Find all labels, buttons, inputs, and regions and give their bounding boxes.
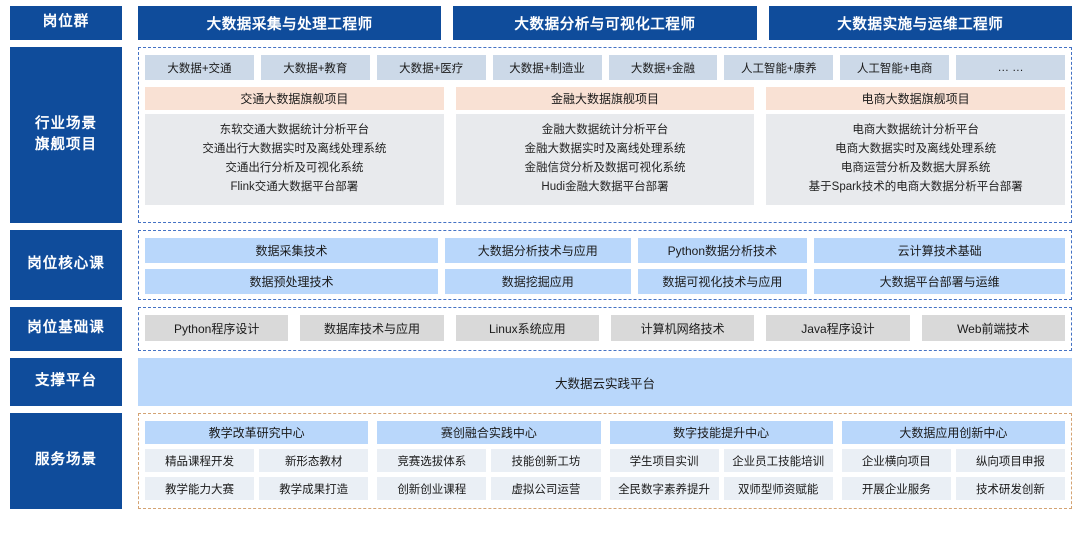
service-scene-title-label: 教学改革研究中心 <box>209 424 305 441</box>
support-platform-label: 大数据云实践平台 <box>555 373 655 392</box>
industry-tag-more[interactable]: … … <box>956 55 1065 80</box>
spacer <box>122 307 138 351</box>
support-platform-item[interactable]: 大数据云实践平台 <box>138 358 1072 406</box>
service-scene-subrow: 开展企业服务 技术研发创新 <box>842 477 1065 500</box>
industry-tag[interactable]: 大数据+医疗 <box>377 55 486 80</box>
rail-job-group: 岗位群 <box>10 6 122 40</box>
core-course-label: 数据挖掘应用 <box>502 273 574 290</box>
flagship-project-title-label: 电商大数据旗舰项目 <box>862 90 970 107</box>
rail-core-courses-label: 岗位核心课 <box>27 254 105 275</box>
flagship-project-item: 东软交通大数据统计分析平台 <box>149 121 440 140</box>
rail-support-platform-label: 支撑平台 <box>35 371 97 392</box>
service-scene-item-label: 开展企业服务 <box>862 481 931 497</box>
basic-course-panel: Python程序设计 数据库技术与应用 Linux系统应用 计算机网络技术 Ja… <box>138 307 1072 351</box>
flagship-project-title[interactable]: 电商大数据旗舰项目 <box>766 87 1065 110</box>
job-group-list: 大数据采集与处理工程师 大数据分析与可视化工程师 大数据实施与运维工程师 <box>138 6 1072 40</box>
service-scene-item-label: 虚拟公司运营 <box>511 481 580 497</box>
industry-flagship-panel: 大数据+交通 大数据+教育 大数据+医疗 大数据+制造业 大数据+金融 人工智能… <box>138 47 1072 223</box>
flagship-project-card: 交通大数据旗舰项目 东软交通大数据统计分析平台 交通出行大数据实时及离线处理系统… <box>145 87 444 205</box>
rail-line-1: 行业场景 <box>35 116 97 132</box>
core-course-row-2: 数据预处理技术 数据挖掘应用 数据可视化技术与应用 大数据平台部署与运维 <box>145 269 1065 294</box>
support-platform-panel: 大数据云实践平台 <box>138 358 1072 406</box>
basic-course-label: Python程序设计 <box>174 320 259 337</box>
job-group-item[interactable]: 大数据采集与处理工程师 <box>138 6 441 40</box>
industry-tag-label: 人工智能+电商 <box>857 60 933 76</box>
core-course-item[interactable]: 数据预处理技术 <box>145 269 438 294</box>
core-course-grid: 数据采集技术 大数据分析技术与应用 Python数据分析技术 云计算技术基础 数… <box>145 238 1065 294</box>
support-platform-row: 支撑平台 大数据云实践平台 <box>10 358 1072 406</box>
flagship-project-item: 电商大数据统计分析平台 <box>770 121 1061 140</box>
job-group-label: 大数据实施与运维工程师 <box>837 13 1003 34</box>
basic-course-item[interactable]: Linux系统应用 <box>456 315 599 341</box>
industry-tag[interactable]: 大数据+金融 <box>609 55 718 80</box>
core-course-row: 岗位核心课 数据采集技术 大数据分析技术与应用 Python数据分析技术 云计算… <box>10 230 1072 300</box>
rail-service-scene: 服务场景 <box>10 413 122 509</box>
rail-industry-flagship-label: 行业场景 旗舰项目 <box>35 114 97 156</box>
service-scene-subrow: 企业横向项目 纵向项目申报 <box>842 449 1065 472</box>
service-scene-row: 服务场景 教学改革研究中心 精品课程开发 新形态教材 教学能力大赛 教学成果打造 <box>10 413 1072 509</box>
flagship-project-items: 电商大数据统计分析平台 电商大数据实时及离线处理系统 电商运营分析及数据大屏系统… <box>766 114 1065 205</box>
industry-flagship-row: 行业场景 旗舰项目 大数据+交通 大数据+教育 大数据+医疗 大数据+制造业 大… <box>10 47 1072 223</box>
service-scene-panel: 教学改革研究中心 精品课程开发 新形态教材 教学能力大赛 教学成果打造 赛创融合… <box>138 413 1072 509</box>
service-scene-item-label: 学生项目实训 <box>630 453 699 469</box>
basic-course-label: Linux系统应用 <box>489 320 566 337</box>
service-scene-card: 大数据应用创新中心 企业横向项目 纵向项目申报 开展企业服务 技术研发创新 <box>842 421 1065 500</box>
industry-tag[interactable]: 大数据+制造业 <box>493 55 602 80</box>
flagship-project-items: 金融大数据统计分析平台 金融大数据实时及离线处理系统 金融信贷分析及数据可视化系… <box>456 114 755 205</box>
basic-course-row: 岗位基础课 Python程序设计 数据库技术与应用 Linux系统应用 计算机网… <box>10 307 1072 351</box>
service-scene-card: 教学改革研究中心 精品课程开发 新形态教材 教学能力大赛 教学成果打造 <box>145 421 368 500</box>
spacer <box>122 47 138 223</box>
rail-industry-flagship: 行业场景 旗舰项目 <box>10 47 122 223</box>
flagship-project-items: 东软交通大数据统计分析平台 交通出行大数据实时及离线处理系统 交通出行分析及可视… <box>145 114 444 205</box>
basic-course-label: Java程序设计 <box>801 320 874 337</box>
flagship-project-item: Flink交通大数据平台部署 <box>149 178 440 197</box>
service-scene-card: 赛创融合实践中心 竞赛选拔体系 技能创新工坊 创新创业课程 虚拟公司运营 <box>377 421 600 500</box>
core-course-item[interactable]: 云计算技术基础 <box>814 238 1065 263</box>
service-scene-item-label: 技能创新工坊 <box>511 453 580 469</box>
core-course-label: 数据可视化技术与应用 <box>662 273 782 290</box>
service-scene-item-label: 创新创业课程 <box>397 481 466 497</box>
basic-course-list: Python程序设计 数据库技术与应用 Linux系统应用 计算机网络技术 Ja… <box>145 315 1065 341</box>
spacer <box>122 230 138 300</box>
job-group-item[interactable]: 大数据实施与运维工程师 <box>769 6 1072 40</box>
industry-tag-label: 大数据+医疗 <box>399 60 463 76</box>
service-scene-item-label: 纵向项目申报 <box>976 453 1045 469</box>
service-scene-item-label: 企业横向项目 <box>862 453 931 469</box>
service-scene-title[interactable]: 数字技能提升中心 <box>610 421 833 444</box>
service-scene-item-label: 精品课程开发 <box>165 453 234 469</box>
flagship-project-item: 交通出行大数据实时及离线处理系统 <box>149 140 440 159</box>
industry-tag-row: 大数据+交通 大数据+教育 大数据+医疗 大数据+制造业 大数据+金融 人工智能… <box>145 55 1065 80</box>
service-scene-subrow: 全民数字素养提升 双师型师资赋能 <box>610 477 833 500</box>
basic-course-item[interactable]: Java程序设计 <box>766 315 909 341</box>
service-scene-title-label: 赛创融合实践中心 <box>441 424 537 441</box>
industry-tag[interactable]: 人工智能+电商 <box>840 55 949 80</box>
industry-tag-label: 人工智能+康养 <box>741 60 817 76</box>
core-course-item[interactable]: 大数据分析技术与应用 <box>445 238 631 263</box>
flagship-project-item: 金融大数据实时及离线处理系统 <box>460 140 751 159</box>
flagship-project-item: 电商大数据实时及离线处理系统 <box>770 140 1061 159</box>
industry-tag-label: 大数据+教育 <box>283 60 347 76</box>
service-scene-item[interactable]: 学生项目实训 <box>610 449 719 472</box>
service-scene-card: 数字技能提升中心 学生项目实训 企业员工技能培训 全民数字素养提升 双师型师资赋… <box>610 421 833 500</box>
service-scene-item[interactable]: 技术研发创新 <box>956 477 1065 500</box>
service-scene-item[interactable]: 企业横向项目 <box>842 449 951 472</box>
job-group-row: 岗位群 大数据采集与处理工程师 大数据分析与可视化工程师 大数据实施与运维工程师 <box>10 6 1072 40</box>
rail-basic-courses: 岗位基础课 <box>10 307 122 351</box>
rail-job-group-label: 岗位群 <box>43 12 90 33</box>
core-course-label: 云计算技术基础 <box>898 242 982 259</box>
service-scene-item[interactable]: 纵向项目申报 <box>956 449 1065 472</box>
core-course-row-1: 数据采集技术 大数据分析技术与应用 Python数据分析技术 云计算技术基础 <box>145 238 1065 263</box>
basic-course-label: 计算机网络技术 <box>641 320 725 337</box>
basic-course-label: 数据库技术与应用 <box>324 320 420 337</box>
rail-support-platform: 支撑平台 <box>10 358 122 406</box>
service-scene-item[interactable]: 新形态教材 <box>259 449 368 472</box>
service-scene-title[interactable]: 教学改革研究中心 <box>145 421 368 444</box>
basic-course-item[interactable]: Python程序设计 <box>145 315 288 341</box>
service-scene-item-label: 全民数字素养提升 <box>618 481 710 497</box>
service-scene-item-label: 教学成果打造 <box>279 481 348 497</box>
core-course-item[interactable]: 数据可视化技术与应用 <box>638 269 808 294</box>
flagship-project-title-label: 金融大数据旗舰项目 <box>551 90 659 107</box>
flagship-project-row: 交通大数据旗舰项目 东软交通大数据统计分析平台 交通出行大数据实时及离线处理系统… <box>145 87 1065 205</box>
service-scene-item-label: 竞赛选拔体系 <box>397 453 466 469</box>
industry-tag[interactable]: 大数据+交通 <box>145 55 254 80</box>
rail-line-2: 旗舰项目 <box>35 137 97 153</box>
spacer <box>122 413 138 509</box>
core-course-label: 数据采集技术 <box>255 242 327 259</box>
job-group-label: 大数据分析与可视化工程师 <box>514 13 695 34</box>
service-scene-item-label: 教学能力大赛 <box>165 481 234 497</box>
industry-tag[interactable]: 大数据+教育 <box>261 55 370 80</box>
rail-basic-courses-label: 岗位基础课 <box>27 318 105 339</box>
industry-tag-more-label: … … <box>997 62 1023 74</box>
service-scene-item[interactable]: 精品课程开发 <box>145 449 254 472</box>
service-scene-title[interactable]: 大数据应用创新中心 <box>842 421 1065 444</box>
service-scene-item[interactable]: 教学能力大赛 <box>145 477 254 500</box>
service-scene-item[interactable]: 技能创新工坊 <box>491 449 600 472</box>
flagship-project-title[interactable]: 交通大数据旗舰项目 <box>145 87 444 110</box>
industry-tag-label: 大数据+金融 <box>631 60 695 76</box>
service-scene-subrow: 精品课程开发 新形态教材 <box>145 449 368 472</box>
core-course-panel: 数据采集技术 大数据分析技术与应用 Python数据分析技术 云计算技术基础 数… <box>138 230 1072 300</box>
service-scene-item-label: 企业员工技能培训 <box>732 453 824 469</box>
flagship-project-card: 金融大数据旗舰项目 金融大数据统计分析平台 金融大数据实时及离线处理系统 金融信… <box>456 87 755 205</box>
service-scene-title-label: 数字技能提升中心 <box>673 424 769 441</box>
service-scene-title[interactable]: 赛创融合实践中心 <box>377 421 600 444</box>
core-course-item[interactable]: Python数据分析技术 <box>638 238 808 263</box>
industry-tag-label: 大数据+制造业 <box>509 60 585 76</box>
core-course-label: 大数据平台部署与运维 <box>880 273 1000 290</box>
basic-course-item[interactable]: Web前端技术 <box>922 315 1065 341</box>
service-scene-item[interactable]: 开展企业服务 <box>842 477 951 500</box>
core-course-label: 大数据分析技术与应用 <box>478 242 598 259</box>
flagship-project-item: 金融大数据统计分析平台 <box>460 121 751 140</box>
flagship-project-item: 金融信贷分析及数据可视化系统 <box>460 159 751 178</box>
flagship-project-card: 电商大数据旗舰项目 电商大数据统计分析平台 电商大数据实时及离线处理系统 电商运… <box>766 87 1065 205</box>
industry-tag-label: 大数据+交通 <box>167 60 231 76</box>
basic-course-label: Web前端技术 <box>957 320 1029 337</box>
service-scene-item[interactable]: 虚拟公司运营 <box>491 477 600 500</box>
service-scene-item[interactable]: 企业员工技能培训 <box>724 449 833 472</box>
job-group-item[interactable]: 大数据分析与可视化工程师 <box>453 6 756 40</box>
service-scene-item[interactable]: 竞赛选拔体系 <box>377 449 486 472</box>
core-course-label: 数据预处理技术 <box>249 273 333 290</box>
rail-core-courses: 岗位核心课 <box>10 230 122 300</box>
basic-course-item[interactable]: 计算机网络技术 <box>611 315 754 341</box>
service-scene-subrow: 创新创业课程 虚拟公司运营 <box>377 477 600 500</box>
service-scene-subrow: 学生项目实训 企业员工技能培训 <box>610 449 833 472</box>
flagship-project-item: 基于Spark技术的电商大数据分析平台部署 <box>770 178 1061 197</box>
service-scene-item-label: 技术研发创新 <box>976 481 1045 497</box>
service-scene-item-label: 双师型师资赋能 <box>738 481 819 497</box>
service-scene-item[interactable]: 全民数字素养提升 <box>610 477 719 500</box>
service-scene-list: 教学改革研究中心 精品课程开发 新形态教材 教学能力大赛 教学成果打造 赛创融合… <box>145 421 1065 500</box>
flagship-project-item: Hudi金融大数据平台部署 <box>460 178 751 197</box>
service-scene-item[interactable]: 双师型师资赋能 <box>724 477 833 500</box>
spacer <box>122 358 138 406</box>
service-scene-item-label: 新形态教材 <box>285 453 343 469</box>
core-course-item[interactable]: 数据挖掘应用 <box>445 269 631 294</box>
service-scene-subrow: 竞赛选拔体系 技能创新工坊 <box>377 449 600 472</box>
spacer <box>122 6 138 40</box>
service-scene-title-label: 大数据应用创新中心 <box>899 424 1007 441</box>
core-course-item[interactable]: 大数据平台部署与运维 <box>814 269 1065 294</box>
service-scene-subrow: 教学能力大赛 教学成果打造 <box>145 477 368 500</box>
job-group-label: 大数据采集与处理工程师 <box>207 13 373 34</box>
curriculum-map: 岗位群 大数据采集与处理工程师 大数据分析与可视化工程师 大数据实施与运维工程师… <box>0 0 1080 535</box>
flagship-project-title[interactable]: 金融大数据旗舰项目 <box>456 87 755 110</box>
core-course-label: Python数据分析技术 <box>668 242 777 259</box>
service-scene-item[interactable]: 创新创业课程 <box>377 477 486 500</box>
flagship-project-title-label: 交通大数据旗舰项目 <box>240 90 348 107</box>
service-scene-item[interactable]: 教学成果打造 <box>259 477 368 500</box>
flagship-project-item: 交通出行分析及可视化系统 <box>149 159 440 178</box>
flagship-project-item: 电商运营分析及数据大屏系统 <box>770 159 1061 178</box>
basic-course-item[interactable]: 数据库技术与应用 <box>300 315 443 341</box>
rail-service-scene-label: 服务场景 <box>35 450 97 471</box>
core-course-item[interactable]: 数据采集技术 <box>145 238 438 263</box>
industry-tag[interactable]: 人工智能+康养 <box>724 55 833 80</box>
